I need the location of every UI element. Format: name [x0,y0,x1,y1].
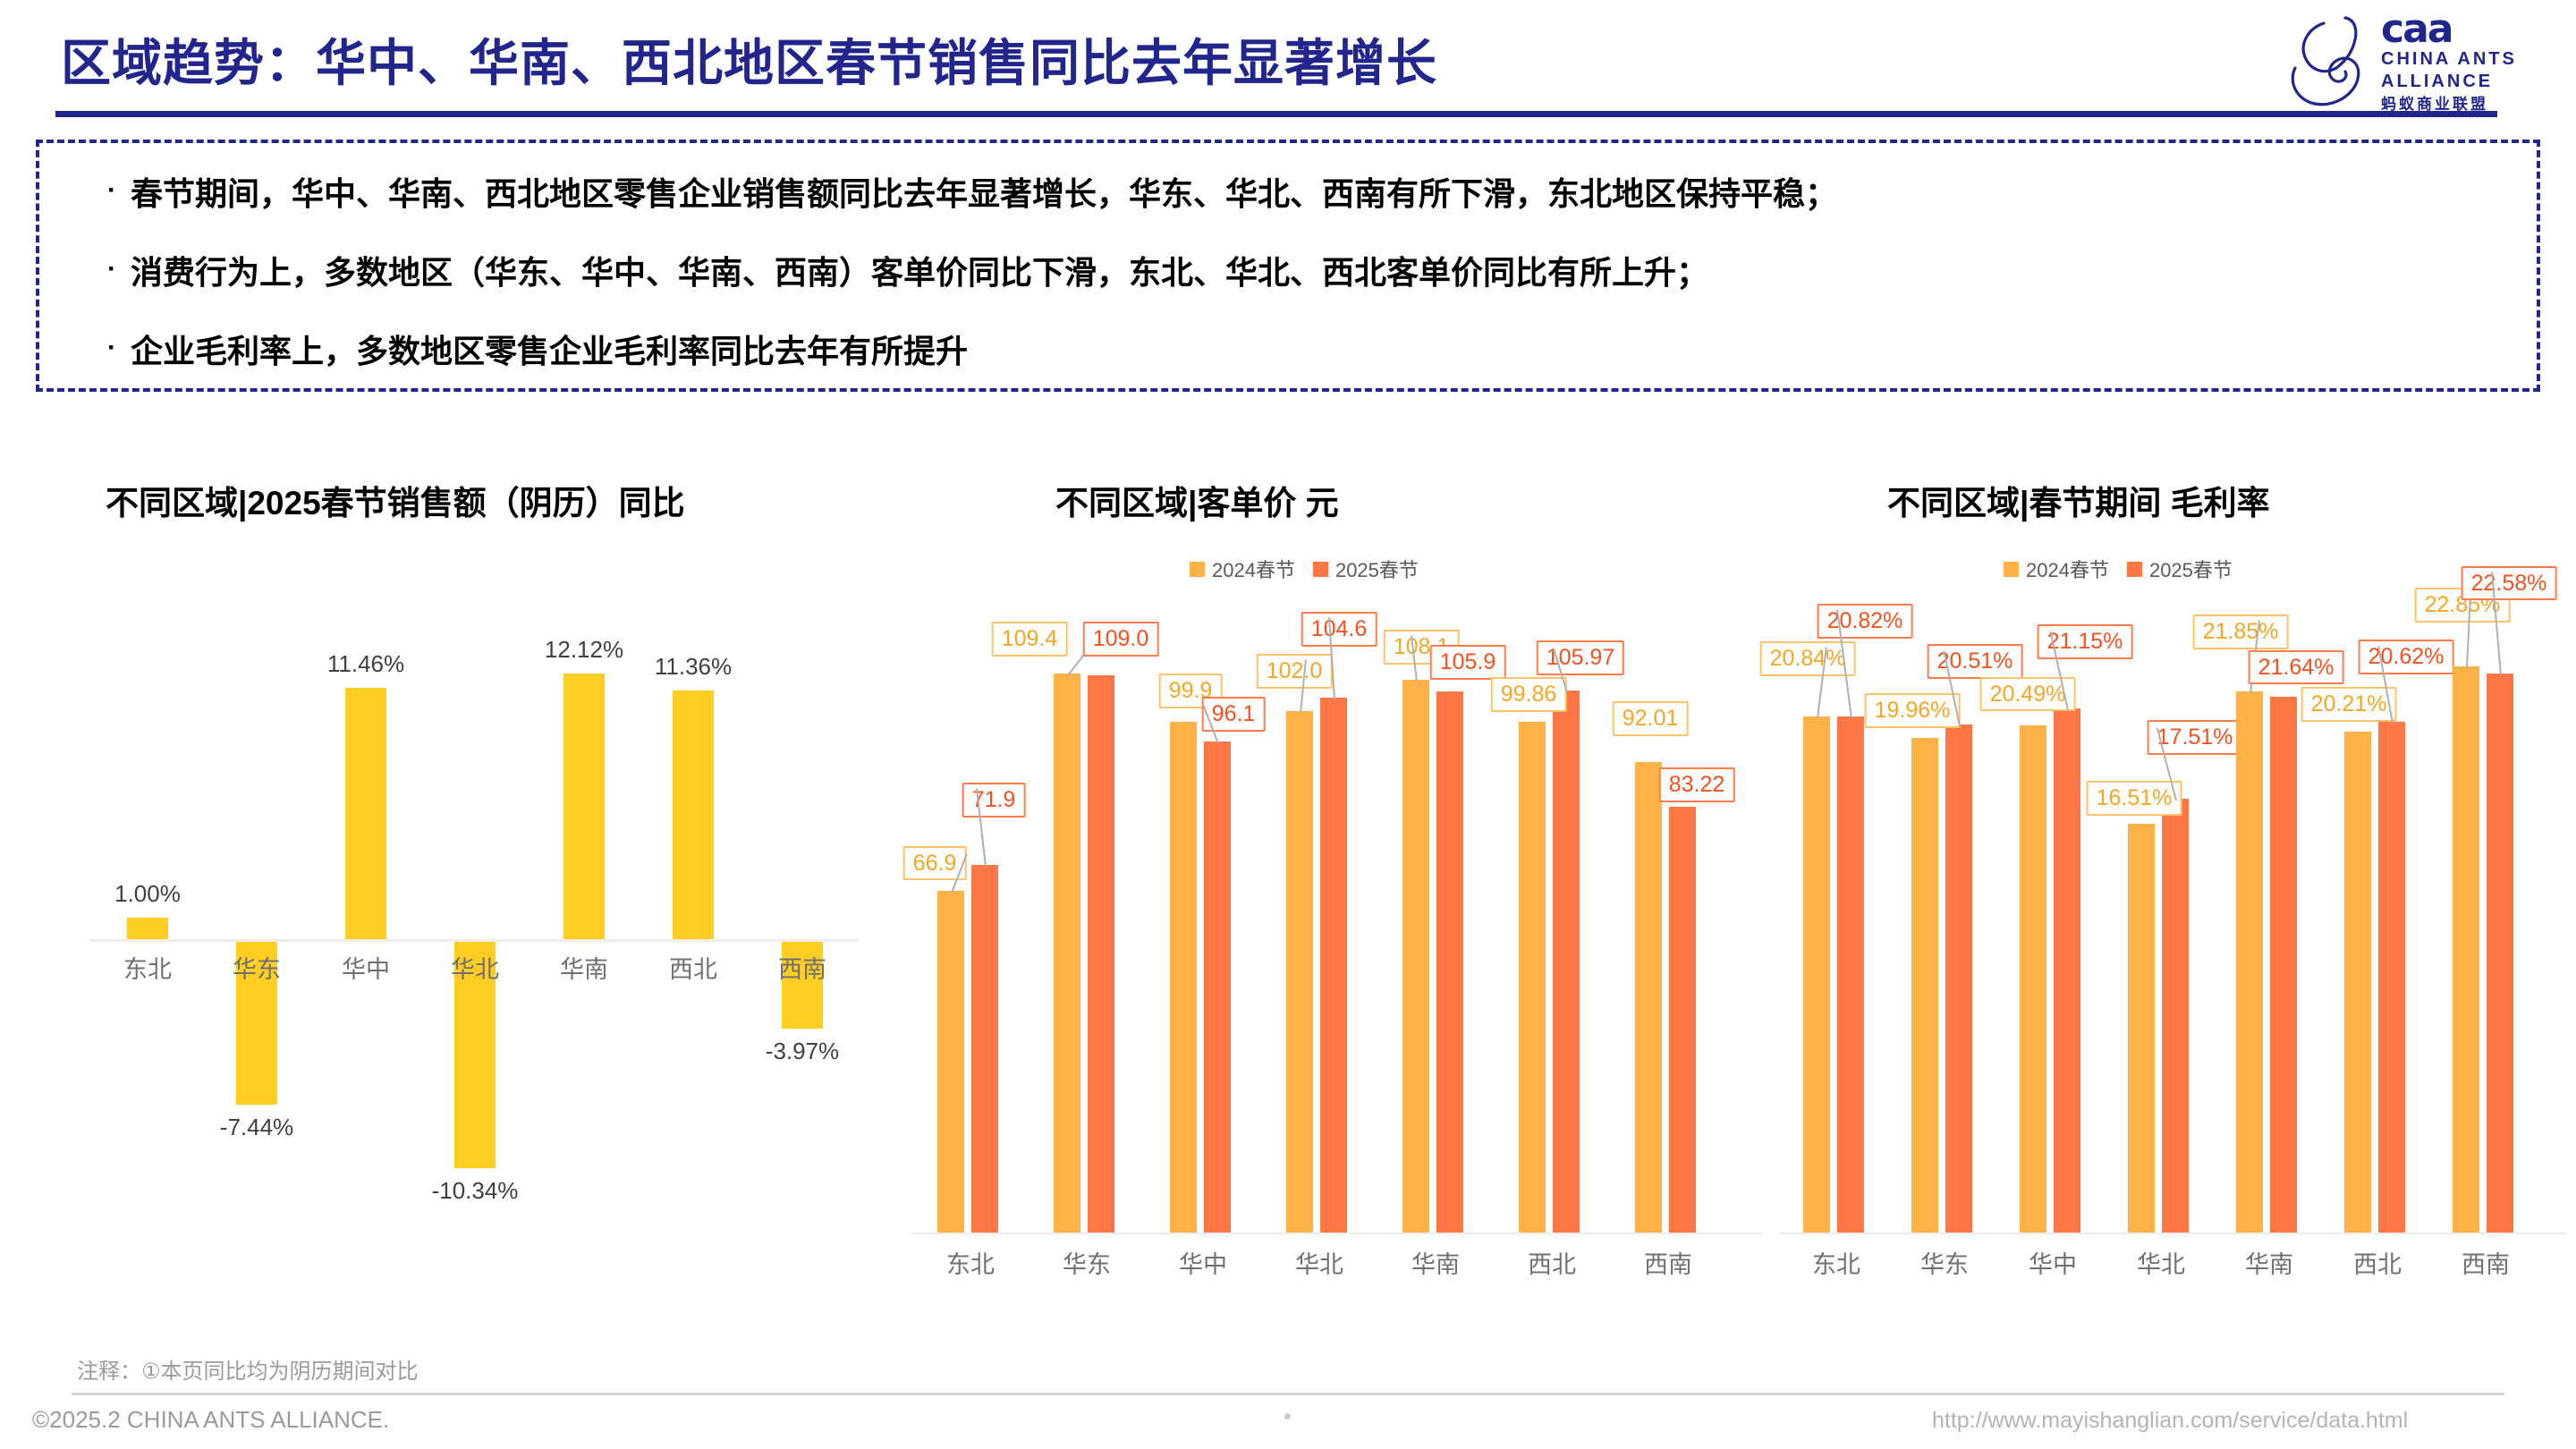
bar-2024 [1286,711,1313,1233]
bar-group: 西南 [1635,590,1701,1233]
bar-2025 [2162,799,2189,1233]
legend-swatch-icon [1313,562,1328,577]
bar-2025 [1204,741,1231,1233]
bar-group: 11.36%西北 [639,555,748,1261]
x-axis-category-label: 华东 [1911,1245,1978,1280]
x-axis-category-label: 华北 [1286,1245,1352,1280]
legend-swatch-icon [1190,562,1205,577]
bar [345,688,386,939]
x-axis-category-label: 东北 [93,950,202,985]
bar-2024 [2128,824,2155,1233]
bar-value-label: 11.36% [639,653,748,681]
bar-group: 华南 [2236,590,2302,1233]
x-axis-category-label: 西南 [2453,1245,2519,1280]
bar-value-label: -10.34% [420,1177,530,1205]
logo-line-3: 蚂蚁商业联盟 [2381,93,2542,116]
ant-swirl-icon [2284,13,2383,109]
value-label-2024: 19.96% [1865,693,1961,728]
legend-label: 2024春节 [2026,555,2109,583]
x-axis-category-label: 西北 [639,950,748,985]
x-axis-category-label: 华南 [2236,1245,2302,1280]
value-label-2025: 21.64% [2249,650,2344,685]
bar-value-label: 1.00% [93,880,202,908]
value-label-2025: 104.6 [1301,612,1377,647]
chart-plot-area: 1.00%东北-7.44%华东11.46%华中-10.34%华北12.12%华南… [89,555,859,1261]
x-axis-category-label: 西南 [748,950,857,985]
chart-title: 不同区域|2025春节销售额（阴历）同比 [106,476,685,524]
value-label-2025: 20.51% [1928,644,2023,679]
value-label-2025: 109.0 [1083,622,1159,657]
bar-2025 [1837,716,1864,1233]
bar-2024 [1054,674,1080,1233]
bar-2025 [971,865,998,1233]
bar-2025 [2487,674,2513,1233]
chart-plot-area: 东北20.84%20.82%华东19.96%20.51%华中20.49%21.1… [1780,590,2567,1234]
value-label-2025: 22.58% [2462,566,2557,601]
bar-2024 [2020,725,2046,1233]
bar-2024 [1402,680,1429,1233]
copyright-text: ©2025.2 CHINA ANTS ALLIANCE. [32,1406,389,1434]
bar-2024 [1170,722,1197,1233]
value-label-2024: 99.86 [1491,677,1567,712]
summary-bullet: · 春节期间，华中、华南、西北地区零售企业销售额同比去年显著增长，华东、华北、西… [93,175,1837,212]
bar-value-label: 12.12% [530,636,639,664]
bar-2024 [2344,732,2371,1233]
bar-group: 华北 [2128,590,2194,1233]
legend-item-2024: 2024春节 [2004,555,2109,583]
chart-panel-sales-yoy: 不同区域|2025春节销售额（阴历）同比 1.00%东北-7.44%华东11.4… [36,420,885,1324]
value-label-2025: 20.82% [1818,604,1913,639]
x-axis-category-label: 华南 [530,950,639,985]
x-axis-line [1780,1233,2567,1234]
source-url[interactable]: http://www.mayishanglian.com/service/dat… [1932,1408,2408,1434]
bar-value-label: -3.97% [748,1038,857,1065]
summary-bullet: · 消费行为上，多数地区（华东、华中、华南、西南）客单价同比下滑，东北、华北、西… [93,254,1708,291]
bar-value-label: 11.46% [311,650,420,678]
bar [127,918,168,940]
bar-group: -7.44%华东 [202,555,311,1261]
legend-swatch-icon [2127,562,2142,577]
bar-2024 [937,891,964,1233]
bar [673,691,714,939]
x-axis-category-label: 华南 [1402,1245,1469,1280]
legend-label: 2025春节 [2149,555,2233,583]
bar-2024 [1635,762,1662,1233]
legend-label: 2025春节 [1335,555,1419,583]
x-axis-category-label: 华北 [2128,1245,2194,1280]
bar [563,674,605,939]
bar-2025 [2054,708,2080,1233]
x-axis-category-label: 西北 [1519,1245,1585,1280]
bar-2025 [1320,698,1347,1233]
value-label-2024: 16.51% [2087,781,2182,816]
bar-2025 [1669,807,1696,1233]
bullet-marker-icon: · [93,333,131,364]
bar-group: -3.97%西南 [748,555,857,1261]
bar-2025 [1088,675,1114,1233]
summary-bullet-text: 企业毛利率上，多数地区零售企业毛利率同比去年有所提升 [131,333,968,369]
legend-swatch-icon [2004,562,2019,577]
chart-legend: 2024春节 2025春节 [1190,555,1419,583]
value-label-2025: 105.9 [1430,645,1506,680]
chart-plot-area: 东北66.971.9华东109.4109.0华中99.996.1华北102.01… [912,590,1762,1234]
bar-group: 华南 [1402,590,1469,1233]
title-underline [55,111,2497,117]
legend-item-2024: 2024春节 [1190,555,1295,583]
value-label-2025: 71.9 [962,783,1026,818]
x-axis-category-label: 东北 [1803,1245,1869,1280]
x-axis-category-label: 华中 [1170,1245,1236,1280]
value-label-2024: 92.01 [1613,701,1689,736]
legend-item-2025: 2025春节 [1313,555,1419,583]
page-title: 区域趋势：华中、华南、西北地区春节销售同比去年显著增长 [61,23,1437,96]
bar-group: 11.46%华中 [311,555,420,1261]
bar-2025 [2378,722,2405,1233]
chart-title: 不同区域|客单价 元 [1055,476,1339,524]
x-axis-category-label: 西北 [2344,1245,2411,1280]
bar-group: 华东 [1054,590,1120,1233]
value-label-2024: 109.4 [992,622,1068,657]
summary-bullet: · 企业毛利率上，多数地区零售企业毛利率同比去年有所提升 [93,333,968,369]
bar-group: -10.34%华北 [420,555,530,1261]
summary-bullet-text: 春节期间，华中、华南、西北地区零售企业销售额同比去年显著增长，华东、华北、西南有… [131,175,1837,212]
bar-group: 东北 [937,590,1004,1233]
summary-bullet-text: 消费行为上，多数地区（华东、华中、华南、西南）客单价同比下滑，东北、华北、西北客… [131,254,1708,291]
legend-label: 2024春节 [1212,555,1295,583]
bar-value-label: -7.44% [202,1114,311,1141]
page-indicator-dot [1284,1413,1291,1419]
summary-callout-box: · 春节期间，华中、华南、西北地区零售企业销售额同比去年显著增长，华东、华北、西… [36,140,2540,392]
value-label-2024: 21.85% [2193,614,2289,649]
bar-2025 [1945,724,1972,1233]
brand-logo: caa CHINA ANTS ALLIANCE 蚂蚁商业联盟 [2275,7,2544,114]
bar-group: 东北 [1803,590,1869,1233]
bar-2025 [1436,691,1463,1233]
value-label-2025: 105.97 [1537,640,1624,675]
bar-group: 西南 [2453,590,2519,1233]
footnote: 注释：①本页同比均为阴历期间对比 [77,1353,419,1385]
value-label-2024: 20.21% [2301,687,2397,722]
bar-2024 [1519,722,1546,1233]
footer-divider [72,1393,2504,1395]
x-axis-category-label: 华东 [202,950,311,985]
value-label-2025: 20.62% [2359,640,2454,674]
bar-group: 12.12%华南 [530,555,639,1261]
value-label-2024: 102.0 [1257,654,1333,689]
legend-item-2025: 2025春节 [2127,555,2233,583]
x-axis-category-label: 华东 [1054,1245,1120,1280]
chart-legend: 2024春节 2025春节 [2004,555,2233,583]
x-axis-category-label: 华中 [2020,1245,2086,1280]
x-axis-line [912,1233,1762,1234]
logo-line-2: ALLIANCE [2381,71,2542,93]
bar-2024 [2453,666,2479,1233]
chart-panel-unit-price: 不同区域|客单价 元 2024春节 2025春节 东北66.971.9华东109… [894,420,1780,1324]
bar-2025 [2270,697,2297,1233]
logo-line-1: CHINA ANTS [2381,48,2542,71]
bar-group: 1.00%东北 [93,555,202,1261]
x-axis-category-label: 西南 [1635,1245,1701,1280]
x-axis-category-label: 华中 [311,950,420,985]
page-header: 区域趋势：华中、华南、西北地区春节销售同比去年显著增长 caa CHINA AN… [0,0,2576,125]
chart-panel-gross-margin: 不同区域|春节期间 毛利率 2024春节 2025春节 东北20.84%20.8… [1771,420,2576,1324]
x-axis-category-label: 东北 [937,1245,1004,1280]
bar-2025 [1553,691,1580,1233]
x-axis-category-label: 华北 [420,950,530,985]
logo-abbr: caa [2381,11,2542,48]
bar-2024 [2236,691,2263,1233]
bar-2024 [1911,738,1938,1233]
value-label-2025: 83.22 [1659,767,1735,802]
chart-title: 不同区域|春节期间 毛利率 [1887,476,2270,524]
bullet-marker-icon: · [93,175,131,207]
bar-group: 华东 [1911,590,1978,1233]
bar-2024 [1803,716,1830,1233]
bullet-marker-icon: · [93,254,131,285]
